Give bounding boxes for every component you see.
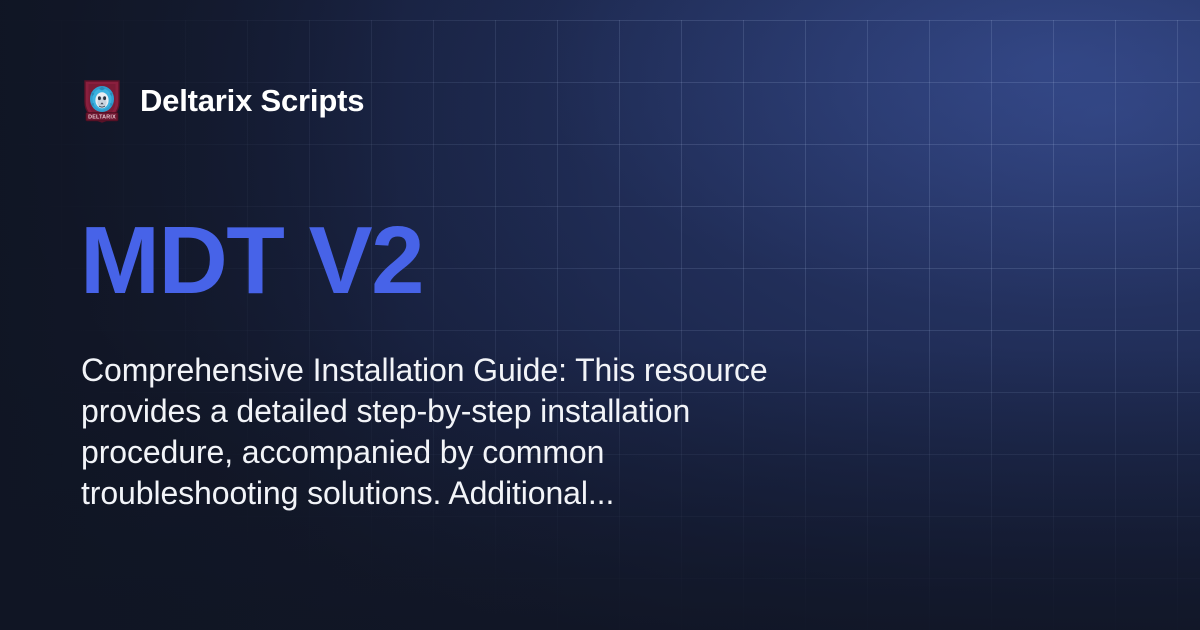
card-content: DELTARIX Deltarix Scripts MDT V2 Compreh… <box>0 0 1200 630</box>
logo-banner-text: DELTARIX <box>88 115 116 121</box>
open-graph-card: DELTARIX Deltarix Scripts MDT V2 Compreh… <box>0 0 1200 630</box>
page-description: Comprehensive Installation Guide: This r… <box>81 350 826 514</box>
lion-shield-crest-icon: DELTARIX <box>82 78 122 124</box>
brand-header: DELTARIX Deltarix Scripts <box>82 78 364 124</box>
page-title: MDT V2 <box>80 213 423 309</box>
brand-name: Deltarix Scripts <box>140 83 364 119</box>
